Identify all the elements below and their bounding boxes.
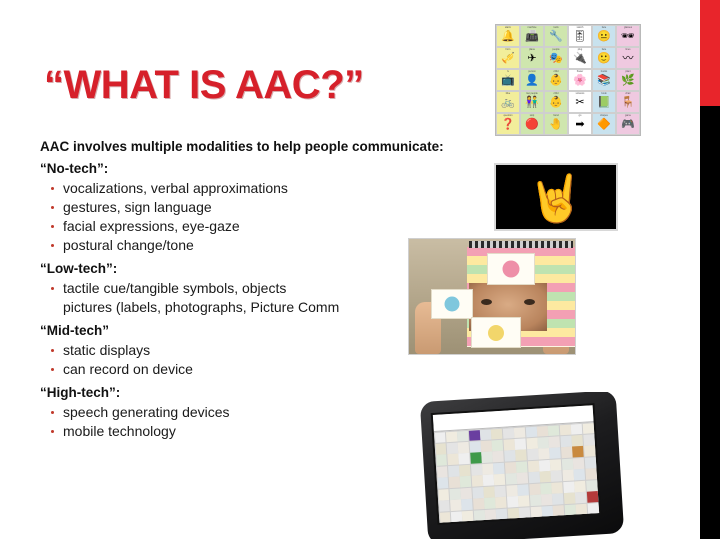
device-key [586, 480, 598, 492]
symbol-glyph: 🤚 [549, 119, 563, 130]
device-key [585, 468, 597, 480]
device-key [549, 436, 561, 448]
symbol-cell: child👶 [544, 69, 568, 91]
device-key [515, 450, 527, 462]
device-key [515, 438, 527, 450]
accent-bar-black [700, 106, 720, 539]
symbol-glyph: ❓ [501, 119, 515, 130]
device-key [586, 491, 598, 503]
device-key [508, 507, 520, 519]
symbol-caption: go [570, 114, 590, 117]
device-key [458, 442, 470, 454]
device-key [530, 506, 542, 518]
device-key [449, 477, 461, 489]
device-key [447, 454, 459, 466]
device-key [438, 489, 450, 501]
symbol-glyph: 📗 [597, 97, 611, 108]
symbol-cell: book📗 [592, 91, 616, 113]
symbol-cell: tools🔧 [544, 25, 568, 47]
device-key [496, 508, 508, 520]
device-key [434, 432, 446, 444]
hand-icon: 🤘 [527, 175, 584, 221]
device-key [449, 488, 461, 500]
symbol-cell: chair🪑 [616, 91, 640, 113]
symbol-glyph: 🎮 [621, 119, 635, 130]
symbol-cell: flower🌸 [568, 69, 592, 91]
symbol-caption: person [522, 70, 542, 73]
symbol-glyph: 🔶 [597, 119, 611, 130]
aac-symbol-grid-image: alarm🔔machine📠tools🔧switch🎚face😐glasses🕶… [495, 24, 641, 136]
symbol-glyph: 📠 [525, 31, 539, 42]
device-key [584, 457, 596, 469]
device-key [576, 503, 588, 515]
symbol-caption: switch [570, 26, 590, 29]
bullet-list-high-tech: speech generating devices mobile technol… [40, 403, 430, 441]
symbol-caption: bike [498, 92, 518, 95]
symbol-caption: people [546, 48, 566, 51]
device-key [446, 431, 458, 443]
symbol-cell: plant🌿 [616, 69, 640, 91]
device-key [505, 473, 517, 485]
device-key [564, 493, 576, 505]
device-key [538, 448, 550, 460]
device-key [582, 423, 594, 435]
symbol-caption: stop [522, 114, 542, 117]
device-key [491, 428, 503, 440]
symbol-glyph: 👶 [549, 75, 563, 86]
device-key [572, 446, 584, 458]
symbol-caption: scissors [570, 92, 590, 95]
device-key [484, 497, 496, 509]
symbol-caption: game [618, 114, 638, 117]
symbol-glyph: 🎺 [501, 53, 515, 64]
symbol-glyph: ✈ [527, 53, 536, 64]
device-key [495, 485, 507, 497]
dot-card-pink [487, 253, 535, 285]
device-key [461, 499, 473, 511]
symbol-cell: glasses🕶 [616, 25, 640, 47]
device-key [469, 441, 481, 453]
accent-bar-red [700, 0, 720, 106]
device-key [575, 492, 587, 504]
device-key [459, 453, 471, 465]
device-key [451, 511, 463, 523]
symbol-cell: scissors✂ [568, 91, 592, 113]
device-screen [433, 405, 599, 523]
device-key [446, 442, 458, 454]
symbol-caption: lines [618, 48, 638, 51]
symbol-caption: plug [570, 48, 590, 51]
symbol-cell: bike🚲 [496, 91, 520, 113]
symbol-caption: shapes [594, 114, 614, 117]
symbol-caption: plane [522, 48, 542, 51]
symbol-cell: people🎭 [544, 47, 568, 69]
device-key [552, 482, 564, 494]
device-key [516, 461, 528, 473]
symbol-glyph: 📺 [501, 75, 515, 86]
dot-card-blue [431, 289, 473, 319]
device-key [514, 427, 526, 439]
list-item: tactile cue/tangible symbols, objects [63, 279, 430, 298]
symbol-cell: tv📺 [496, 69, 520, 91]
device-key [485, 509, 497, 521]
section-heading-low-tech: “Low-tech”: [40, 260, 430, 277]
symbol-cell: shapes🔶 [592, 113, 616, 135]
device-key [436, 455, 448, 467]
section-heading-mid-tech: “Mid-tech” [40, 322, 430, 339]
symbol-glyph: 🔴 [525, 119, 539, 130]
symbol-glyph: 🚲 [501, 97, 515, 108]
symbol-cell: horn🎺 [496, 47, 520, 69]
device-key [540, 471, 552, 483]
symbol-glyph: 🎚 [573, 31, 587, 42]
symbol-caption: chair [618, 92, 638, 95]
device-key [518, 484, 530, 496]
symbol-caption: horn [498, 48, 518, 51]
device-key [559, 424, 571, 436]
symbol-caption: question [498, 114, 518, 117]
bullet-list-mid-tech: static displays can record on device [40, 341, 430, 379]
device-key [437, 477, 449, 489]
symbol-glyph: 😐 [597, 31, 611, 42]
device-key [473, 498, 485, 510]
device-key [528, 472, 540, 484]
symbol-cell: plug🔌 [568, 47, 592, 69]
symbol-caption: child [546, 70, 566, 73]
device-key [550, 459, 562, 471]
device-key [448, 465, 460, 477]
dot-card-yellow [471, 317, 521, 348]
symbol-glyph: 🌸 [573, 75, 587, 86]
device-key [437, 466, 449, 478]
device-key [471, 464, 483, 476]
slide-canvas: “WHAT IS AAC?” AAC involves multiple mod… [0, 0, 720, 539]
symbol-cell: two people👫 [520, 91, 544, 113]
symbol-cell: switch🎚 [568, 25, 592, 47]
symbol-cell: books📚 [592, 69, 616, 91]
device-key [584, 446, 596, 458]
device-key [439, 512, 451, 523]
device-key [540, 483, 552, 495]
device-key [482, 463, 494, 475]
device-key [560, 436, 572, 448]
symbol-caption: books [594, 70, 614, 73]
symbol-glyph: 🎭 [549, 53, 563, 64]
symbol-caption: child [546, 92, 566, 95]
device-key [553, 505, 565, 517]
symbol-caption: tools [546, 26, 566, 29]
device-key [519, 507, 531, 519]
symbol-glyph: 👤 [525, 75, 539, 86]
list-item: can record on device [63, 360, 430, 379]
section-heading-high-tech: “High-tech”: [40, 384, 430, 401]
device-key [572, 435, 584, 447]
symbol-cell: hand🤚 [544, 113, 568, 135]
list-item: static displays [63, 341, 430, 360]
list-item: pictures (labels, photographs, Picture C… [63, 298, 430, 317]
symbol-caption: machine [522, 26, 542, 29]
device-key [571, 423, 583, 435]
symbol-glyph: 🔧 [549, 31, 563, 42]
device-key [550, 448, 562, 460]
device-key [495, 497, 507, 509]
symbol-glyph: 📚 [597, 75, 611, 86]
device-key [492, 440, 504, 452]
symbol-keyboard [434, 422, 599, 523]
bullet-list-no-tech: vocalizations, verbal approximations ges… [40, 179, 430, 255]
symbol-caption: alarm [498, 26, 518, 29]
device-key [483, 475, 495, 487]
device-key [459, 465, 471, 477]
list-item: vocalizations, verbal approximations [63, 179, 430, 198]
device-key [564, 504, 576, 516]
symbol-cell: face😐 [592, 25, 616, 47]
symbol-caption: flower [570, 70, 590, 73]
symbol-caption: hand [546, 114, 566, 117]
device-key [537, 437, 549, 449]
device-key [548, 425, 560, 437]
device-key [541, 494, 553, 506]
device-key [493, 463, 505, 475]
symbol-glyph: 〰 [623, 53, 634, 64]
sign-language-photo: 🤘 [494, 163, 618, 231]
symbol-caption: face [594, 48, 614, 51]
symbol-caption: glasses [618, 26, 638, 29]
device-key [471, 475, 483, 487]
device-key [470, 453, 482, 465]
list-item: postural change/tone [63, 236, 430, 255]
device-key [525, 426, 537, 438]
device-key [481, 440, 493, 452]
symbol-cell: machine📠 [520, 25, 544, 47]
device-key [457, 430, 469, 442]
symbol-glyph: 🌿 [621, 75, 635, 86]
symbol-cell: stop🔴 [520, 113, 544, 135]
list-item: facial expressions, eye-gaze [63, 217, 430, 236]
device-key [460, 476, 472, 488]
list-item: mobile technology [63, 422, 430, 441]
device-key [517, 473, 529, 485]
device-key [542, 505, 554, 517]
device-key [469, 430, 481, 442]
symbol-caption: plant [618, 70, 638, 73]
symbol-glyph: ✂ [575, 97, 584, 108]
device-key [562, 470, 574, 482]
device-key [573, 458, 585, 470]
device-key [483, 486, 495, 498]
device-key [539, 460, 551, 472]
symbol-glyph: 🪑 [621, 97, 635, 108]
symbol-glyph: 🕶 [621, 31, 635, 42]
device-key [583, 434, 595, 446]
device-key [551, 470, 563, 482]
symbol-caption: book [594, 92, 614, 95]
device-key [518, 495, 530, 507]
symbol-cell: game🎮 [616, 113, 640, 135]
bullet-list-low-tech: tactile cue/tangible symbols, objects pi… [40, 279, 430, 317]
device-key [462, 510, 474, 522]
device-key [507, 496, 519, 508]
symbol-glyph: 🔌 [573, 53, 587, 64]
symbol-caption: face [594, 26, 614, 29]
device-key [505, 462, 517, 474]
device-key [574, 480, 586, 492]
device-key [493, 451, 505, 463]
speech-generating-device-photo [418, 392, 626, 539]
device-key [439, 500, 451, 512]
symbol-cell: plane✈ [520, 47, 544, 69]
list-item: speech generating devices [63, 403, 430, 422]
symbol-cell: person👤 [520, 69, 544, 91]
slide-body: AAC involves multiple modalities to help… [40, 138, 430, 446]
symbol-glyph: ➡ [575, 119, 584, 130]
device-key [461, 487, 473, 499]
device-key [503, 439, 515, 451]
symbol-glyph: 👶 [549, 97, 563, 108]
device-key [450, 500, 462, 512]
list-item: gestures, sign language [63, 198, 430, 217]
device-key [574, 469, 586, 481]
device-key [587, 503, 599, 515]
device-key [472, 487, 484, 499]
device-key [503, 428, 515, 440]
symbol-cell: face🙂 [592, 47, 616, 69]
section-heading-no-tech: “No-tech”: [40, 160, 430, 177]
symbol-cell: question❓ [496, 113, 520, 135]
device-key [562, 458, 574, 470]
symbol-cell: alarm🔔 [496, 25, 520, 47]
symbol-cell: lines〰 [616, 47, 640, 69]
device-key [473, 510, 485, 522]
device-key [506, 485, 518, 497]
device-key [527, 460, 539, 472]
device-key [494, 474, 506, 486]
device-key [552, 493, 564, 505]
symbol-glyph: 🔔 [501, 31, 515, 42]
device-key [481, 452, 493, 464]
symbol-caption: tv [498, 70, 518, 73]
page-title: “WHAT IS AAC?” [44, 63, 364, 108]
symbol-caption: two people [522, 92, 542, 95]
device-key [563, 481, 575, 493]
symbol-cell: go➡ [568, 113, 592, 135]
device-key [480, 429, 492, 441]
device-key [561, 447, 573, 459]
low-tech-communication-board-photo [408, 238, 576, 355]
device-key [504, 450, 516, 462]
lead-text: AAC involves multiple modalities to help… [40, 138, 430, 155]
device-key [526, 438, 538, 450]
symbol-glyph: 🙂 [597, 53, 611, 64]
spiral-binding [469, 241, 573, 248]
symbol-cell: child👶 [544, 91, 568, 113]
device-key [529, 483, 541, 495]
device-key [530, 495, 542, 507]
device-key [435, 443, 447, 455]
device-key [527, 449, 539, 461]
symbol-glyph: 👫 [525, 97, 539, 108]
device-key [537, 425, 549, 437]
